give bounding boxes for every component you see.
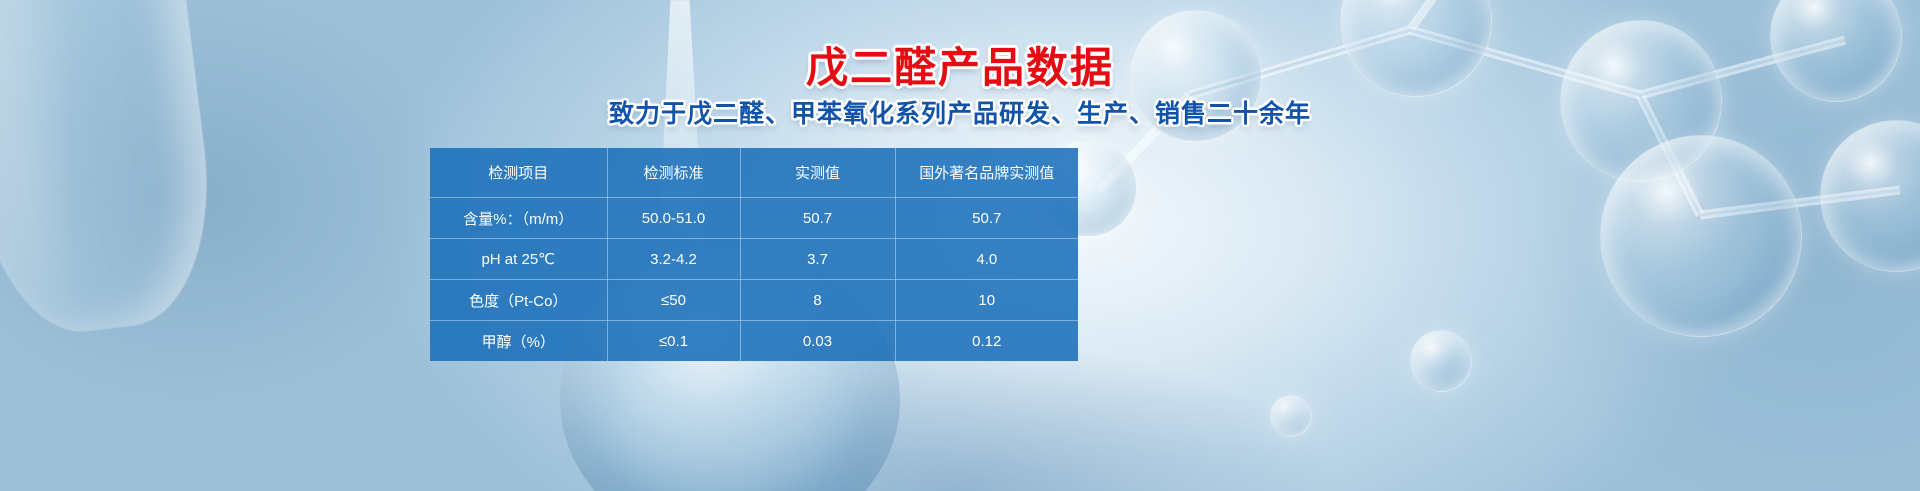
molecule-sphere: [1270, 395, 1312, 437]
cell-measured: 8: [740, 280, 895, 321]
cell-measured: 50.7: [740, 198, 895, 239]
molecule-sphere: [1410, 330, 1472, 392]
cell-foreign-brand: 10: [895, 280, 1078, 321]
cell-foreign-brand: 50.7: [895, 198, 1078, 239]
column-header-test-item: 检测项目: [430, 148, 607, 198]
molecule-sphere: [1600, 135, 1802, 337]
cell-measured: 0.03: [740, 321, 895, 362]
cell-test-item: 含量%：（m/m）: [430, 198, 607, 239]
table-row: 含量%：（m/m） 50.0-51.0 50.7 50.7: [430, 198, 1078, 239]
table-row: 色度（Pt-Co） ≤50 8 10: [430, 280, 1078, 321]
cell-test-item: pH at 25℃: [430, 239, 607, 280]
product-spec-table: 检测项目 检测标准 实测值 国外著名品牌实测值 含量%：（m/m） 50.0-5…: [430, 148, 1078, 361]
cell-test-standard: ≤0.1: [607, 321, 740, 362]
table-header-row: 检测项目 检测标准 实测值 国外著名品牌实测值: [430, 148, 1078, 198]
cell-test-standard: ≤50: [607, 280, 740, 321]
table-row: 甲醇（%） ≤0.1 0.03 0.12: [430, 321, 1078, 362]
product-spec-table-container: 检测项目 检测标准 实测值 国外著名品牌实测值 含量%：（m/m） 50.0-5…: [430, 148, 1078, 361]
page-title: 戊二醛产品数据: [0, 44, 1920, 91]
cell-test-item: 色度（Pt-Co）: [430, 280, 607, 321]
column-header-test-standard: 检测标准: [607, 148, 740, 198]
column-header-measured: 实测值: [740, 148, 895, 198]
cell-foreign-brand: 0.12: [895, 321, 1078, 362]
cell-test-item: 甲醇（%）: [430, 321, 607, 362]
table-header: 检测项目 检测标准 实测值 国外著名品牌实测值: [430, 148, 1078, 198]
cell-test-standard: 50.0-51.0: [607, 198, 740, 239]
page-subtitle: 致力于戊二醛、甲苯氧化系列产品研发、生产、销售二十余年: [0, 99, 1920, 129]
cell-test-standard: 3.2-4.2: [607, 239, 740, 280]
table-body: 含量%：（m/m） 50.0-51.0 50.7 50.7 pH at 25℃ …: [430, 198, 1078, 362]
product-data-banner: 戊二醛产品数据 致力于戊二醛、甲苯氧化系列产品研发、生产、销售二十余年 检测项目…: [0, 0, 1920, 491]
table-row: pH at 25℃ 3.2-4.2 3.7 4.0: [430, 239, 1078, 280]
column-header-foreign-brand: 国外著名品牌实测值: [895, 148, 1078, 198]
banner-headings: 戊二醛产品数据 致力于戊二醛、甲苯氧化系列产品研发、生产、销售二十余年: [0, 44, 1920, 129]
cell-measured: 3.7: [740, 239, 895, 280]
cell-foreign-brand: 4.0: [895, 239, 1078, 280]
